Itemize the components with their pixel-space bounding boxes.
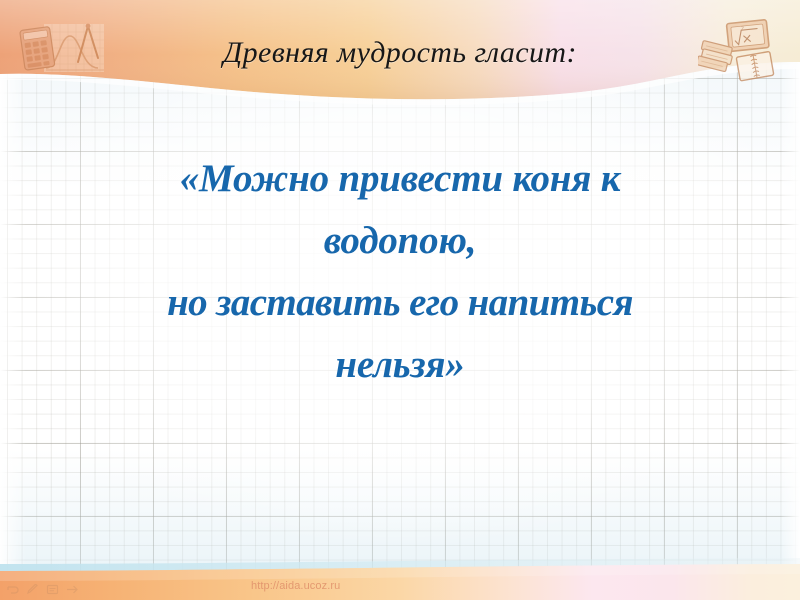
footer-url[interactable]: http://aida.ucoz.ru <box>251 580 340 592</box>
pencil-icon[interactable] <box>26 582 39 593</box>
arrow-icon[interactable] <box>66 582 79 593</box>
quote-line-2: водопою, <box>52 210 748 272</box>
svg-text:2: 2 <box>741 26 745 32</box>
quote-line-3: но заставить его напиться <box>52 272 748 334</box>
footer-icon-row <box>6 582 79 593</box>
note-icon[interactable] <box>46 582 59 593</box>
undo-icon[interactable] <box>6 582 19 593</box>
quote-line-1: «Можно привести коня к <box>52 148 748 210</box>
quote-block: «Можно привести коня к водопою, но заста… <box>52 148 748 396</box>
quote-line-4: нельзя» <box>52 334 748 396</box>
page-title: Древняя мудрость гласит: <box>0 36 800 70</box>
footer-banner <box>0 558 800 600</box>
slide-canvas: 2 <box>0 0 800 600</box>
